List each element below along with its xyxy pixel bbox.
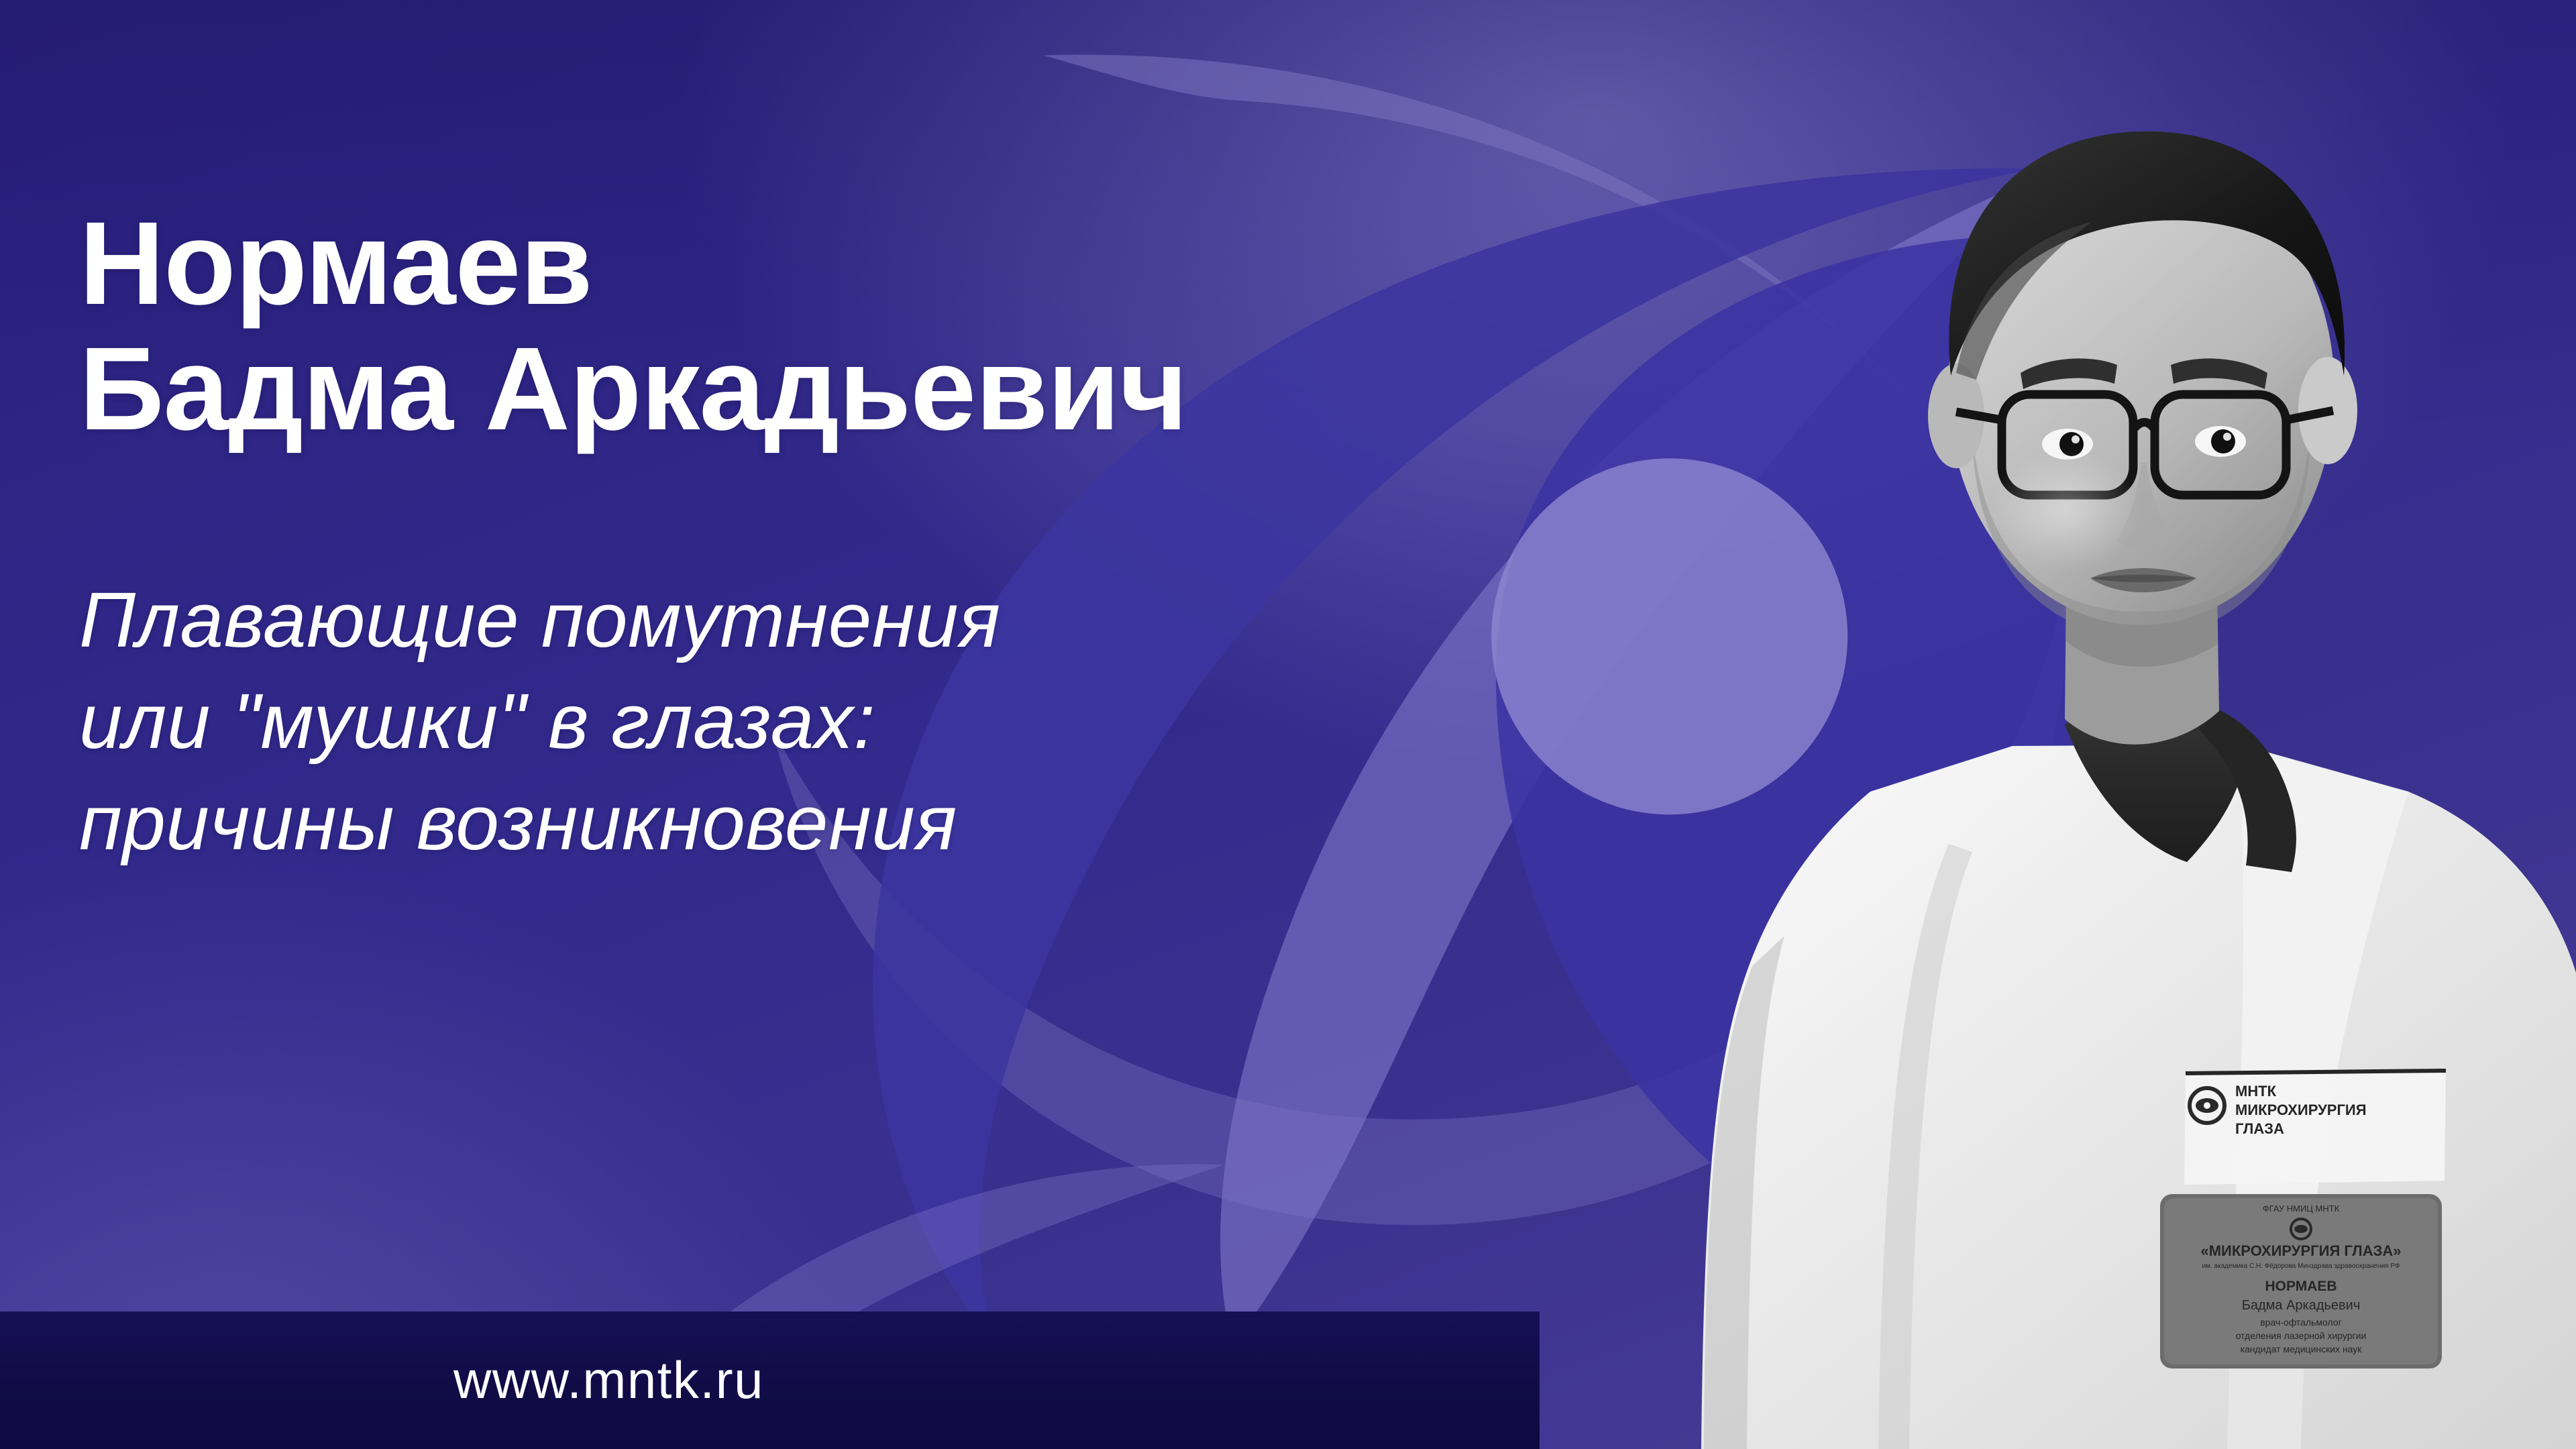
svg-text:МНТК: МНТК bbox=[2235, 1083, 2277, 1099]
svg-text:Бадма Аркадьевич: Бадма Аркадьевич bbox=[2242, 1298, 2361, 1313]
svg-text:врач-офтальмолог: врач-офтальмолог bbox=[2260, 1317, 2341, 1328]
svg-text:«МИКРОХИРУРГИЯ ГЛАЗА»: «МИКРОХИРУРГИЯ ГЛАЗА» bbox=[2200, 1242, 2401, 1259]
article-title: Плавающие помутнения или "мушки" в глаза… bbox=[79, 570, 1501, 873]
promo-banner: Нормаев Бадма Аркадьевич Плавающие помут… bbox=[0, 0, 2576, 1449]
svg-text:НОРМАЕВ: НОРМАЕВ bbox=[2265, 1279, 2337, 1294]
site-url[interactable]: www.mntk.ru bbox=[453, 1350, 764, 1411]
doctor-portrait: МНТК МИКРОХИРУРГИЯ ГЛАЗА ФГАУ НМИЦ МНТК … bbox=[1503, 0, 2576, 1449]
footer-bar: www.mntk.ru bbox=[0, 1311, 1540, 1449]
svg-text:МИКРОХИРУРГИЯ: МИКРОХИРУРГИЯ bbox=[2235, 1102, 2367, 1118]
svg-text:кандидат медицинских наук: кандидат медицинских наук bbox=[2241, 1344, 2363, 1354]
name-badge: ФГАУ НМИЦ МНТК «МИКРОХИРУРГИЯ ГЛАЗА» им.… bbox=[2160, 1194, 2442, 1368]
svg-text:ФГАУ НМИЦ МНТК: ФГАУ НМИЦ МНТК bbox=[2263, 1203, 2340, 1214]
svg-text:отделения лазерной хирургии: отделения лазерной хирургии bbox=[2236, 1330, 2367, 1341]
svg-text:ГЛАЗА: ГЛАЗА bbox=[2235, 1120, 2284, 1137]
speaker-name: Нормаев Бадма Аркадьевич bbox=[79, 201, 1501, 451]
svg-text:им. академика С.Н. Фёдорова Ми: им. академика С.Н. Фёдорова Минздрава зд… bbox=[2202, 1263, 2400, 1270]
text-block: Нормаев Бадма Аркадьевич Плавающие помут… bbox=[79, 201, 1501, 873]
